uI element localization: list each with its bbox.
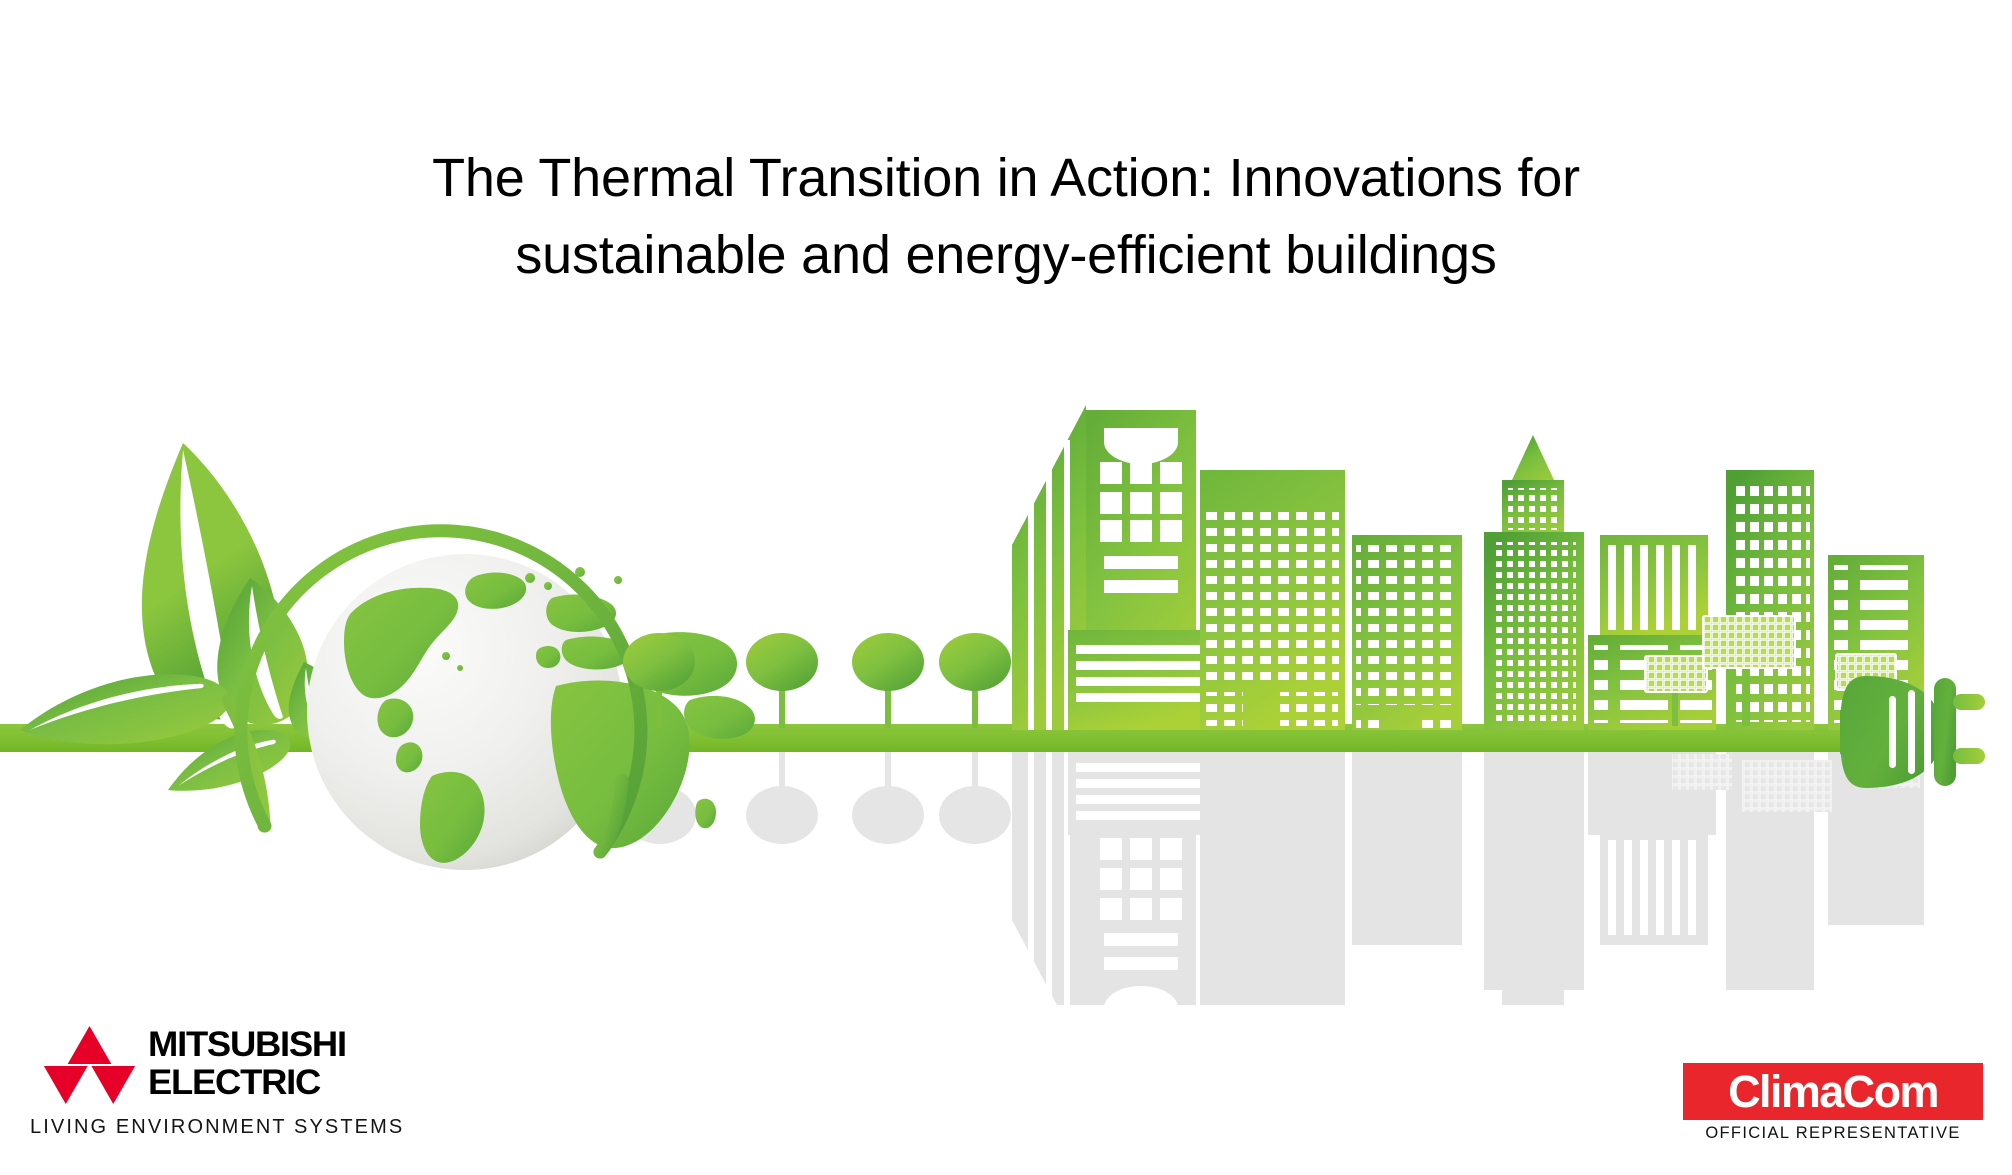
mitsubishi-word-line1: MITSUBISHI <box>148 1026 346 1064</box>
tree <box>852 633 924 728</box>
eco-city-illustration <box>0 0 2012 1175</box>
building-tall-rounded <box>1068 410 1214 730</box>
mitsubishi-tagline: LIVING ENVIRONMENT SYSTEMS <box>30 1116 404 1139</box>
climacom-wordmark: ClimaCom <box>1683 1063 1983 1120</box>
mitsubishi-word-line2: ELECTRIC <box>148 1064 346 1102</box>
slide-canvas: The Thermal Transition in Action: Innova… <box>0 0 2012 1175</box>
building-narrow-tall <box>1726 470 1814 730</box>
building-mid <box>1352 535 1462 730</box>
building-striped <box>1588 535 1716 730</box>
city-skyline <box>1012 405 1924 730</box>
three-diamonds-mark <box>42 1024 137 1106</box>
mitsubishi-wordmark: MITSUBISHI ELECTRIC <box>148 1026 338 1102</box>
mitsubishi-electric-logo: MITSUBISHI ELECTRIC LIVING ENVIRONMENT S… <box>30 1022 370 1152</box>
power-plug-icon <box>1840 676 1985 788</box>
tree <box>939 633 1011 728</box>
skyline-reflection <box>1012 735 1924 1070</box>
tree <box>746 633 818 728</box>
climacom-subtitle: OFFICIAL REPRESENTATIVE <box>1683 1124 1983 1143</box>
climacom-logo: ClimaCom OFFICIAL REPRESENTATIVE <box>1683 1063 1983 1149</box>
leaf-cluster-icon <box>20 443 338 826</box>
building-spire <box>1484 435 1584 730</box>
building-block <box>1200 470 1345 730</box>
